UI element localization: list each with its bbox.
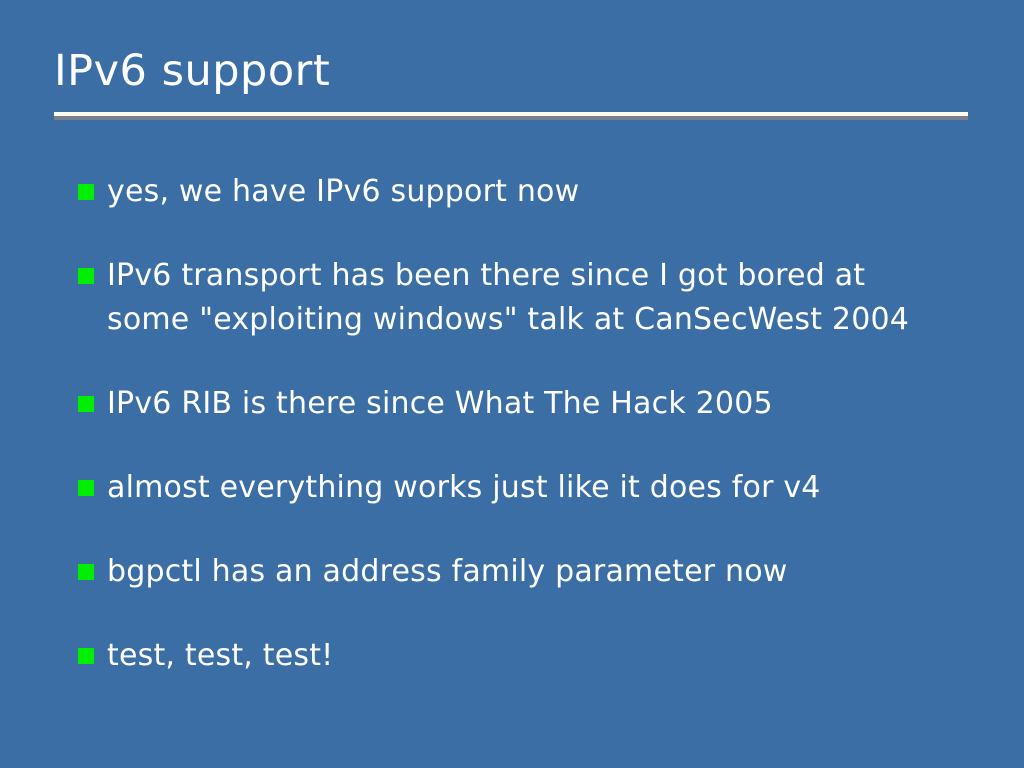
- green-square-bullet-icon: [78, 268, 94, 284]
- bullet-text-line: yes, we have IPv6 support now: [107, 170, 978, 214]
- bullet-text: bgpctl has an address family parameter n…: [107, 550, 978, 594]
- bullet-text-line: test, test, test!: [107, 634, 978, 678]
- slide-title: IPv6 support: [54, 46, 968, 96]
- bullet-text: almost everything works just like it doe…: [107, 466, 978, 510]
- bullet-text: IPv6 transport has been there since I go…: [107, 254, 978, 342]
- bullet-item: IPv6 transport has been there since I go…: [78, 254, 978, 342]
- bullet-text-line: almost everything works just like it doe…: [107, 466, 978, 510]
- bullet-item: bgpctl has an address family parameter n…: [78, 550, 978, 594]
- bullet-list: yes, we have IPv6 support nowIPv6 transp…: [78, 170, 978, 678]
- green-square-bullet-icon: [78, 480, 94, 496]
- green-square-bullet-icon: [78, 648, 94, 664]
- bullet-text-line: IPv6 RIB is there since What The Hack 20…: [107, 382, 978, 426]
- green-square-bullet-icon: [78, 184, 94, 200]
- title-divider-rule: [54, 112, 968, 116]
- bullet-text: yes, we have IPv6 support now: [107, 170, 978, 214]
- bullet-text: test, test, test!: [107, 634, 978, 678]
- bullet-item: almost everything works just like it doe…: [78, 466, 978, 510]
- bullet-text: IPv6 RIB is there since What The Hack 20…: [107, 382, 978, 426]
- title-block: IPv6 support: [54, 46, 968, 96]
- presentation-slide: IPv6 support yes, we have IPv6 support n…: [0, 0, 1024, 768]
- bullet-item: yes, we have IPv6 support now: [78, 170, 978, 214]
- green-square-bullet-icon: [78, 564, 94, 580]
- green-square-bullet-icon: [78, 396, 94, 412]
- bullet-text-line: bgpctl has an address family parameter n…: [107, 550, 978, 594]
- bullet-text-line: some "exploiting windows" talk at CanSec…: [107, 298, 978, 342]
- bullet-item: IPv6 RIB is there since What The Hack 20…: [78, 382, 978, 426]
- bullet-item: test, test, test!: [78, 634, 978, 678]
- bullet-text-line: IPv6 transport has been there since I go…: [107, 254, 978, 298]
